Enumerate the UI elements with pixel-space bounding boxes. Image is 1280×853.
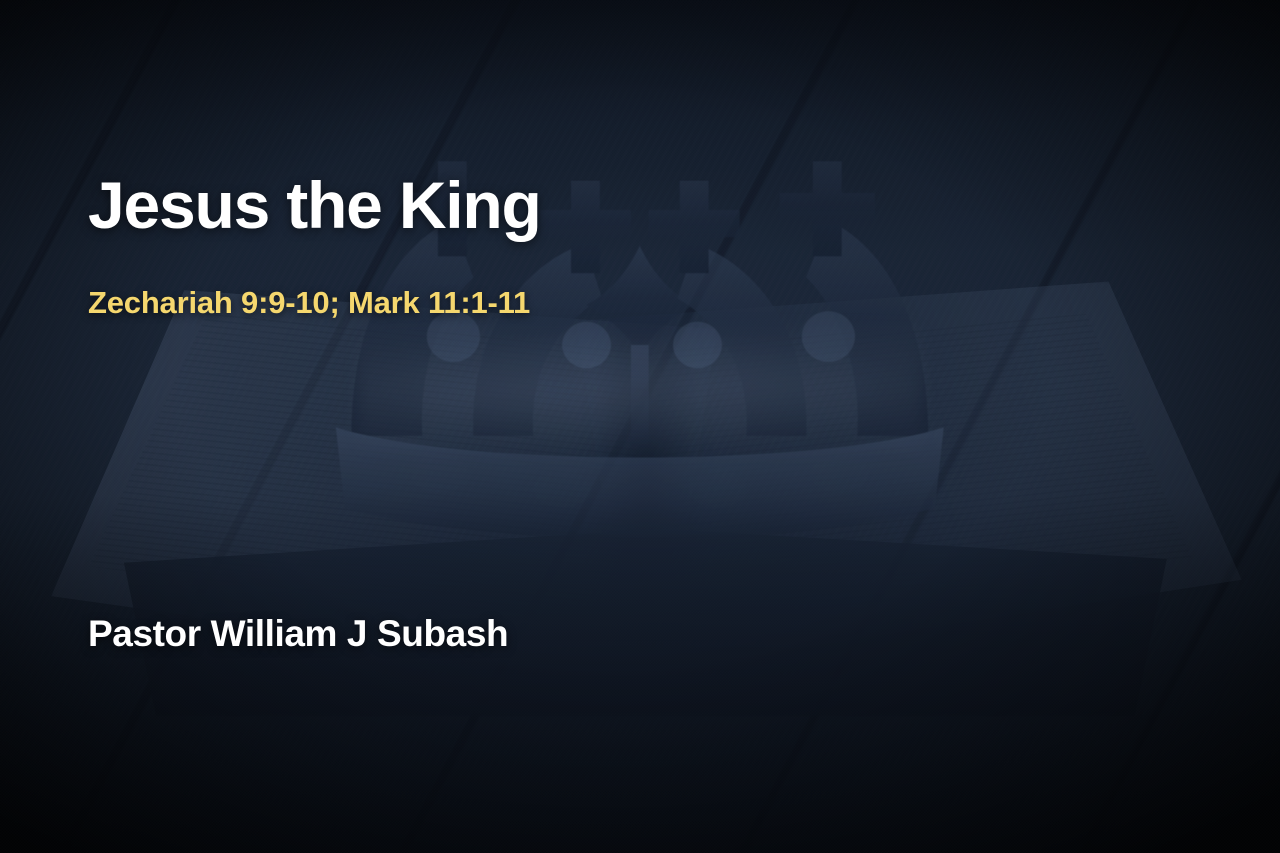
speaker-name: Pastor William J Subash	[88, 612, 508, 656]
title-block: Jesus the King Zechariah 9:9-10; Mark 11…	[88, 0, 1088, 853]
sermon-title-slide: Jesus the King Zechariah 9:9-10; Mark 11…	[0, 0, 1280, 853]
page-title: Jesus the King	[88, 171, 541, 240]
scripture-reference: Zechariah 9:9-10; Mark 11:1-11	[88, 284, 530, 321]
